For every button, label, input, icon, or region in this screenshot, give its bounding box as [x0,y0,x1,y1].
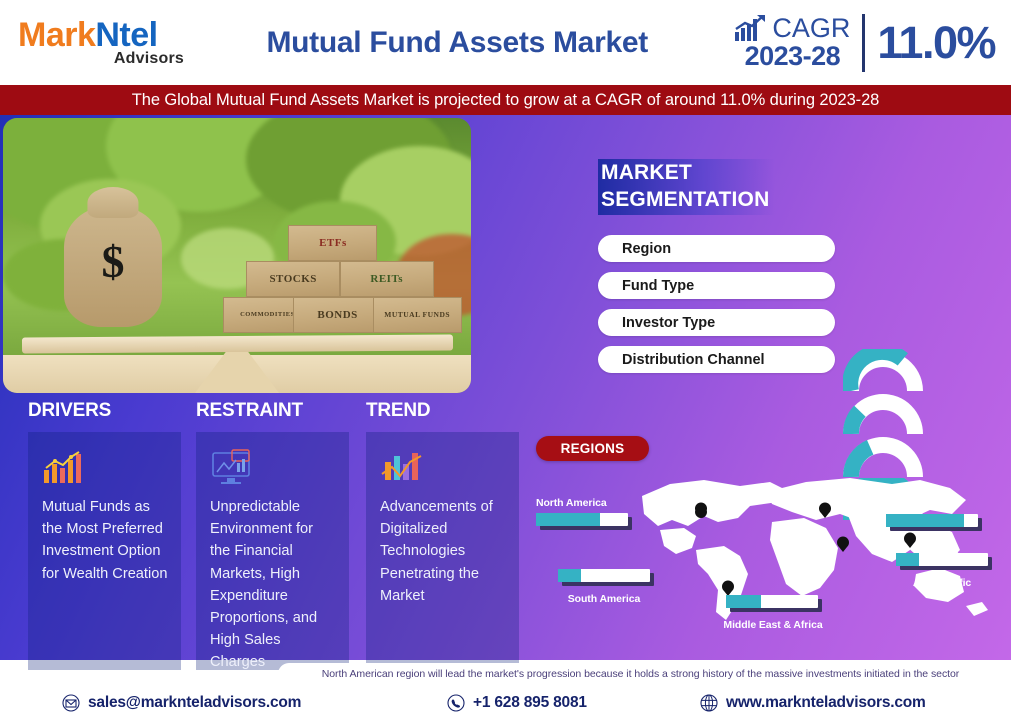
email-icon [62,694,80,712]
card-heading-restraint: RESTRAINT [196,400,303,422]
footer-phone-text: +1 628 895 8081 [473,694,587,712]
region-south-america: South America [558,569,656,605]
bar-fill-south-america [558,569,581,582]
card-text-trend: Advancements of Digitalized Technologies… [380,496,507,607]
card-heading-trend: TREND [366,400,430,422]
logo-wordmark: MarkNtel [18,18,158,52]
segmentation-title-line2: SEGMENTATION [601,187,769,214]
bar-chart-trend-icon [380,446,507,488]
bar-track-south-america [558,569,650,582]
cagr-top-row: CAGR [734,14,850,42]
cagr-value: 11.0% [877,17,995,69]
bar-fill-europe [886,514,964,527]
hero-image: $ ETFs STOCKS REITs COMMODITIES BONDS MU… [3,118,471,393]
box-stocks: STOCKS [246,261,340,297]
logo-tagline: Advisors [114,50,190,68]
infographic-page: MarkNtel Advisors Mutual Fund Assets Mar… [0,0,1011,720]
footer-phone[interactable]: +1 628 895 8081 [447,694,587,712]
card-heading-drivers: DRIVERS [28,400,111,422]
phone-icon [447,694,465,712]
footer-website[interactable]: www.marknteladvisors.com [700,694,926,712]
bar-chart-growth-icon [42,446,169,488]
region-label-europe: Europe [886,498,978,510]
region-label-south-america: South America [558,593,650,605]
bar-fill-middle-east-africa [726,595,761,608]
page-title: Mutual Fund Assets Market [190,26,734,60]
segment-item-distribution-channel[interactable]: Distribution Channel [598,346,835,373]
page-header: MarkNtel Advisors Mutual Fund Assets Mar… [0,0,1011,85]
cagr-divider [862,14,865,72]
card-text-drivers: Mutual Funds as the Most Preferred Inves… [42,496,169,585]
segment-item-region[interactable]: Region [598,235,835,262]
region-label-asia-pacific: Asia-Pacific [896,577,988,589]
card-drivers: Mutual Funds as the Most Preferred Inves… [28,432,181,670]
footer-email-text: sales@marknteladvisors.com [88,694,301,712]
market-segmentation-section: MARKET SEGMENTATION Region Fund Type Inv… [598,159,898,373]
region-europe: Europe [886,498,984,532]
headline-banner: The Global Mutual Fund Assets Market is … [0,85,1011,115]
money-bag-neck [87,187,138,218]
footer-email[interactable]: sales@marknteladvisors.com [62,694,301,712]
bar-track-middle-east-africa [726,595,818,608]
box-reits: REITs [340,261,434,297]
card-trend: Advancements of Digitalized Technologies… [366,432,519,670]
money-bag: $ [64,206,162,327]
region-label-north-america: North America [536,497,634,509]
logo-text-ntel: Ntel [95,16,157,54]
segmentation-title: MARKET SEGMENTATION [598,159,775,215]
globe-icon [700,694,718,712]
bar-track-asia-pacific [896,553,988,566]
region-asia-pacific: Asia-Pacific [896,553,994,589]
bar-track-europe [886,514,978,527]
box-mutual-funds: MUTUAL FUNDS [373,297,462,333]
footer-note: North American region will lead the mark… [278,663,1003,685]
footer-website-text: www.marknteladvisors.com [726,694,926,712]
monitor-analytics-icon [210,446,337,488]
cagr-period: 2023-28 [745,42,841,70]
cagr-block: CAGR 2023-28 11.0% [734,14,1011,72]
arc-chart-fund-type [843,392,923,434]
cagr-left-group: CAGR 2023-28 [734,14,850,70]
dollar-sign-icon: $ [64,235,162,288]
bar-track-north-america [536,513,628,526]
box-etfs: ETFs [288,225,377,261]
bar-fill-north-america [536,513,600,526]
bar-fill-asia-pacific [896,553,919,566]
region-label-middle-east-africa: Middle East & Africa [718,619,828,631]
page-footer: sales@marknteladvisors.com +1 628 895 80… [0,685,1011,720]
region-middle-east-africa: Middle East & Africa [726,595,824,631]
brand-logo[interactable]: MarkNtel Advisors [0,18,190,68]
logo-text-mark: Mark [18,16,95,54]
segment-item-fund-type[interactable]: Fund Type [598,272,835,299]
arc-chart-region [843,349,923,391]
cagr-label: CAGR [772,15,850,42]
box-bonds: BONDS [293,297,382,333]
scale-beam [22,334,453,353]
card-text-restraint: Unpredictable Environment for the Financ… [210,496,337,673]
card-restraint: Unpredictable Environment for the Financ… [196,432,349,670]
regions-badge: REGIONS [536,436,649,461]
bar-chart-arrow-icon [734,14,768,42]
region-north-america: North America [536,497,634,531]
segmentation-title-line1: MARKET [601,160,769,187]
segment-item-investor-type[interactable]: Investor Type [598,309,835,336]
